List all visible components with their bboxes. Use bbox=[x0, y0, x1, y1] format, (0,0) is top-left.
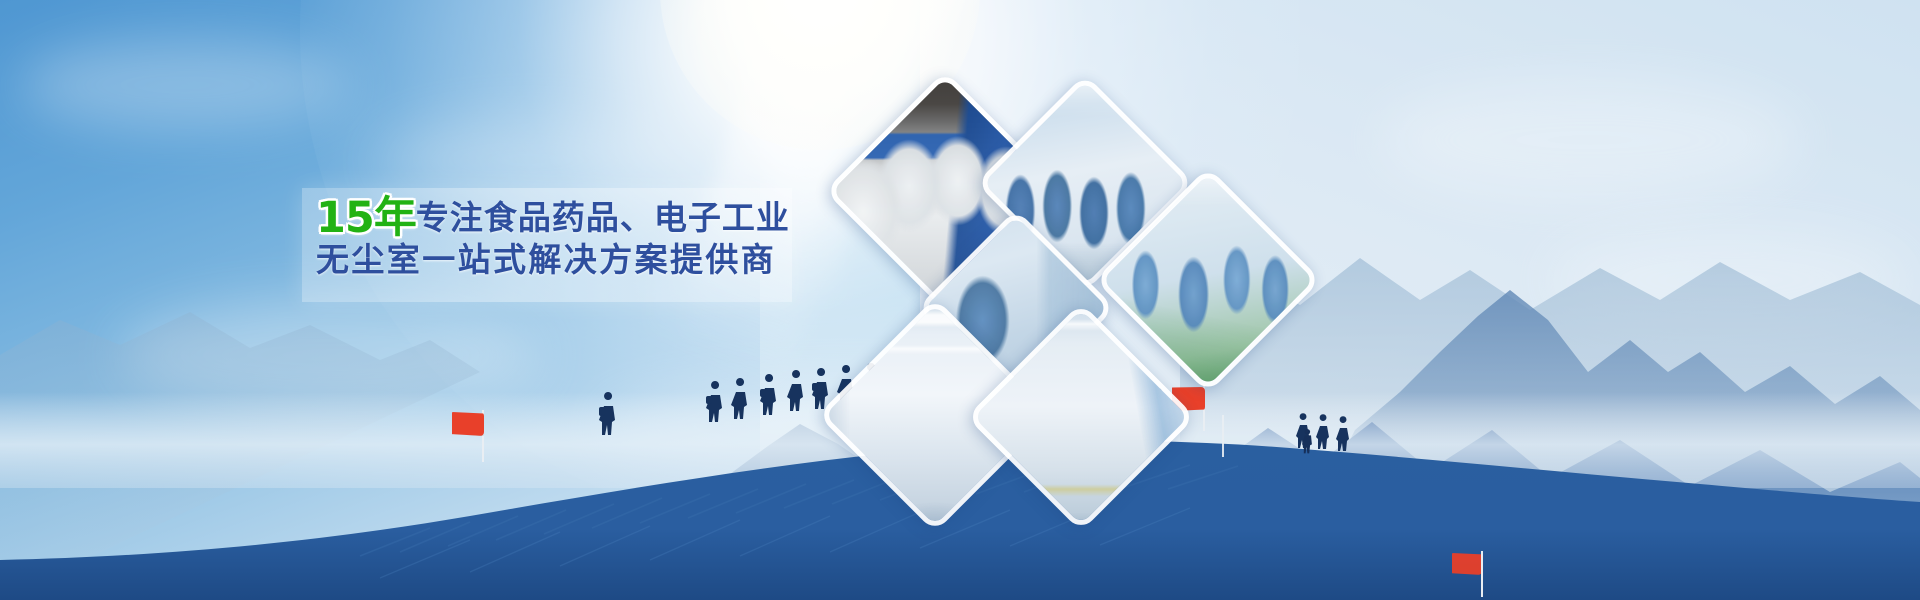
flag-cloth bbox=[452, 412, 484, 436]
climber-silhouette bbox=[787, 370, 803, 411]
headline-line-2: 无尘室一站式解决方案提供商 bbox=[316, 243, 786, 277]
climber-silhouette bbox=[599, 392, 615, 435]
climber-silhouette bbox=[706, 381, 722, 422]
flag-cloth bbox=[1452, 553, 1482, 575]
climber-silhouette bbox=[812, 368, 828, 409]
flag-pole bbox=[1481, 551, 1483, 597]
years-highlight: 15年 bbox=[316, 193, 416, 243]
climber-silhouette bbox=[1316, 414, 1329, 449]
climber-silhouette bbox=[760, 374, 776, 415]
climber-silhouette bbox=[731, 378, 747, 419]
photo-collage bbox=[838, 88, 1278, 470]
headline-line-1: 15年专注食品药品、电子工业 bbox=[316, 197, 786, 241]
climber-silhouette bbox=[1336, 416, 1349, 451]
headline-line-2-text: 无尘室一站式解决方案提供商 bbox=[316, 241, 776, 278]
headline-block: 15年专注食品药品、电子工业 无尘室一站式解决方案提供商 bbox=[316, 197, 786, 277]
hero-banner: 15年专注食品药品、电子工业 无尘室一站式解决方案提供商 bbox=[0, 0, 1920, 600]
headline-line-1-rest: 专注食品药品、电子工业 bbox=[416, 199, 790, 236]
